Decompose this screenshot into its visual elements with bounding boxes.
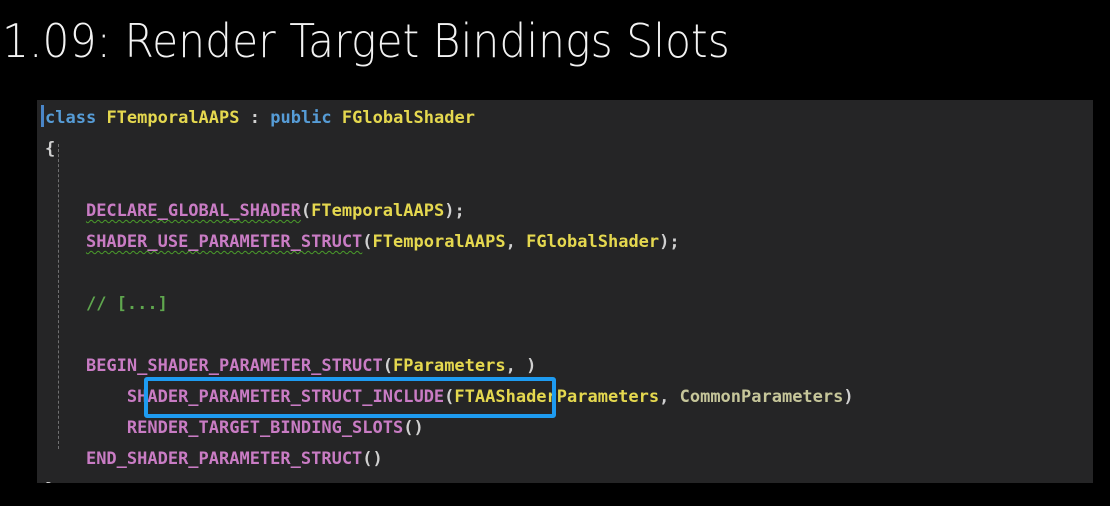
code-token: (): [403, 418, 423, 438]
code-line[interactable]: SHADER_PARAMETER_STRUCT_INCLUDE(FTAAShad…: [37, 382, 1093, 413]
code-line[interactable]: // [...]: [37, 289, 1093, 320]
slide-title: 1.09: Render Target Bindings Slots: [2, 2, 1014, 80]
code-token: FTemporalAAPS: [311, 201, 444, 221]
code-token: {: [45, 139, 55, 159]
code-token: SHADER_PARAMETER_STRUCT_INCLUDE: [127, 387, 444, 407]
code-token: };: [45, 480, 65, 483]
code-token: FParameters: [393, 356, 506, 376]
code-token: (: [301, 201, 311, 221]
code-token: :: [240, 108, 271, 128]
code-token: ,: [659, 387, 679, 407]
code-token: [45, 201, 86, 221]
code-token: (: [383, 356, 393, 376]
code-lines-container[interactable]: class FTemporalAAPS : public FGlobalShad…: [37, 100, 1093, 483]
code-token: RENDER_TARGET_BINDING_SLOTS: [127, 418, 403, 438]
code-token: (: [362, 232, 372, 252]
code-token: FGlobalShader: [342, 108, 475, 128]
code-line[interactable]: BEGIN_SHADER_PARAMETER_STRUCT(FParameter…: [37, 351, 1093, 382]
code-token: [45, 294, 86, 314]
code-token: DECLARE_GLOBAL_SHADER: [86, 201, 301, 221]
code-line[interactable]: SHADER_USE_PARAMETER_STRUCT(FTemporalAAP…: [37, 227, 1093, 258]
code-line[interactable]: class FTemporalAAPS : public FGlobalShad…: [37, 103, 1093, 134]
code-line[interactable]: [37, 320, 1093, 351]
code-token: (: [444, 387, 454, 407]
slide-root: 1.09: Render Target Bindings Slots class…: [0, 0, 1110, 506]
code-block: class FTemporalAAPS : public FGlobalShad…: [37, 100, 1093, 483]
code-token: END_SHADER_PARAMETER_STRUCT: [86, 449, 362, 469]
code-token: FTAAShaderParameters: [454, 387, 659, 407]
code-line[interactable]: [37, 165, 1093, 196]
code-token: [45, 387, 127, 407]
code-token: );: [659, 232, 679, 252]
code-line[interactable]: {: [37, 134, 1093, 165]
code-token: [45, 449, 86, 469]
code-line[interactable]: [37, 258, 1093, 289]
code-token: CommonParameters: [680, 387, 844, 407]
code-token: public: [270, 108, 331, 128]
code-token: ,: [506, 232, 526, 252]
code-token: BEGIN_SHADER_PARAMETER_STRUCT: [86, 356, 383, 376]
code-token: (): [362, 449, 382, 469]
code-token: [45, 418, 127, 438]
code-line[interactable]: DECLARE_GLOBAL_SHADER(FTemporalAAPS);: [37, 196, 1093, 227]
code-token: class: [45, 108, 96, 128]
code-token: // [...]: [86, 294, 168, 314]
code-token: FTemporalAAPS: [106, 108, 239, 128]
code-line[interactable]: RENDER_TARGET_BINDING_SLOTS(): [37, 413, 1093, 444]
code-token: SHADER_USE_PARAMETER_STRUCT: [86, 232, 362, 252]
code-token: , ): [506, 356, 537, 376]
code-token: [332, 108, 342, 128]
code-token: [45, 232, 86, 252]
code-line[interactable]: END_SHADER_PARAMETER_STRUCT(): [37, 444, 1093, 475]
code-token: FTemporalAAPS: [373, 232, 506, 252]
code-line[interactable]: };: [37, 475, 1093, 483]
code-token: );: [444, 201, 464, 221]
code-token: ): [843, 387, 853, 407]
code-token: [45, 356, 86, 376]
code-token: FGlobalShader: [526, 232, 659, 252]
code-token: [96, 108, 106, 128]
